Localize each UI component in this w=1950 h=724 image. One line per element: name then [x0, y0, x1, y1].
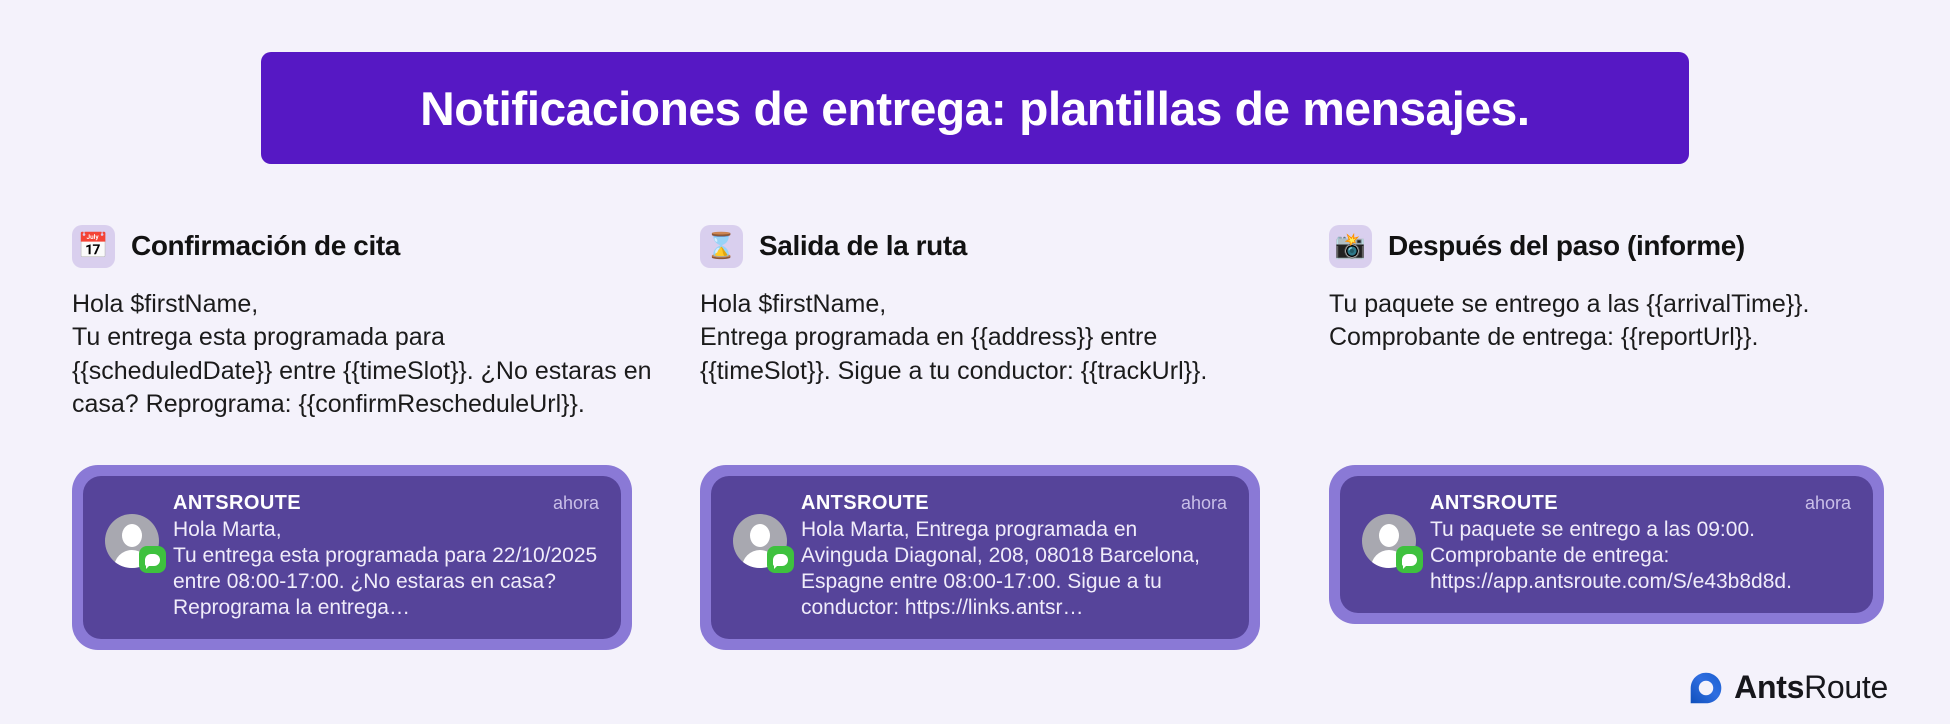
avatar [733, 514, 787, 568]
speech-bubble-icon [1402, 554, 1417, 566]
column-title: Después del paso (informe) [1388, 230, 1745, 262]
template-column-confirmation: 📅 Confirmación de cita Hola $firstName, … [0, 222, 690, 421]
message-badge-icon [1396, 546, 1423, 573]
notification-header: ANTSROUTE ahora [1430, 492, 1851, 515]
notification-content: ANTSROUTE ahora Tu paquete se entrego a … [1430, 492, 1851, 595]
notification-previews: ANTSROUTE ahora Hola Marta, Tu entrega e… [0, 465, 1950, 650]
column-body-text: Hola $firstName, Entrega programada en {… [700, 288, 1260, 388]
logo-text-route: Route [1804, 669, 1888, 705]
speech-bubble-icon [773, 554, 788, 566]
message-badge-icon [767, 546, 794, 573]
notification-header: ANTSROUTE ahora [173, 492, 599, 515]
notification-card[interactable]: ANTSROUTE ahora Tu paquete se entrego a … [1329, 465, 1884, 624]
antsroute-logo-text: AntsRoute [1734, 669, 1888, 706]
notification-message: Hola Marta, Tu entrega esta programada p… [173, 517, 599, 621]
notification-timestamp: ahora [1181, 493, 1227, 514]
hourglass-icon: ⌛ [700, 225, 743, 268]
notification-slot: ANTSROUTE ahora Tu paquete se entrego a … [1315, 465, 1950, 650]
notification-content: ANTSROUTE ahora Hola Marta, Tu entrega e… [173, 492, 599, 621]
notification-timestamp: ahora [1805, 493, 1851, 514]
avatar-head [122, 524, 142, 547]
notification-card[interactable]: ANTSROUTE ahora Hola Marta, Entrega prog… [700, 465, 1260, 650]
title-banner: Notificaciones de entrega: plantillas de… [261, 52, 1689, 164]
column-body-text: Tu paquete se entrego a las {{arrivalTim… [1329, 288, 1929, 355]
column-header: 📸 Después del paso (informe) [1329, 222, 1950, 270]
notification-message: Hola Marta, Entrega programada en Avingu… [801, 517, 1227, 621]
notification-body: ANTSROUTE ahora Hola Marta, Tu entrega e… [83, 476, 621, 639]
notification-header: ANTSROUTE ahora [801, 492, 1227, 515]
notification-timestamp: ahora [553, 493, 599, 514]
notification-body: ANTSROUTE ahora Tu paquete se entrego a … [1340, 476, 1873, 613]
camera-flash-icon: 📸 [1329, 225, 1372, 268]
template-columns: 📅 Confirmación de cita Hola $firstName, … [0, 222, 1950, 421]
notification-message: Tu paquete se entrego a las 09:00. Compr… [1430, 517, 1851, 595]
template-column-after-visit: 📸 Después del paso (informe) Tu paquete … [1315, 222, 1950, 421]
column-header: ⌛ Salida de la ruta [700, 222, 1315, 270]
column-title: Confirmación de cita [131, 230, 400, 262]
notification-app-name: ANTSROUTE [801, 492, 929, 515]
notification-slot: ANTSROUTE ahora Hola Marta, Tu entrega e… [0, 465, 690, 650]
antsroute-logo-mark-icon [1689, 671, 1723, 705]
calendar-icon: 📅 [72, 225, 115, 268]
notification-slot: ANTSROUTE ahora Hola Marta, Entrega prog… [690, 465, 1315, 650]
template-column-route-start: ⌛ Salida de la ruta Hola $firstName, Ent… [690, 222, 1315, 421]
logo-text-ants: Ants [1734, 669, 1804, 705]
avatar-head [750, 524, 770, 547]
column-title: Salida de la ruta [759, 230, 967, 262]
message-badge-icon [139, 546, 166, 573]
column-header: 📅 Confirmación de cita [72, 222, 690, 270]
notification-body: ANTSROUTE ahora Hola Marta, Entrega prog… [711, 476, 1249, 639]
notification-card[interactable]: ANTSROUTE ahora Hola Marta, Tu entrega e… [72, 465, 632, 650]
avatar [1362, 514, 1416, 568]
speech-bubble-icon [145, 554, 160, 566]
antsroute-logo: AntsRoute [1689, 669, 1888, 706]
avatar-head [1379, 524, 1399, 547]
column-body-text: Hola $firstName, Tu entrega esta program… [72, 288, 652, 421]
page-title: Notificaciones de entrega: plantillas de… [420, 81, 1529, 136]
notification-app-name: ANTSROUTE [1430, 492, 1558, 515]
notification-content: ANTSROUTE ahora Hola Marta, Entrega prog… [801, 492, 1227, 621]
notification-app-name: ANTSROUTE [173, 492, 301, 515]
avatar [105, 514, 159, 568]
